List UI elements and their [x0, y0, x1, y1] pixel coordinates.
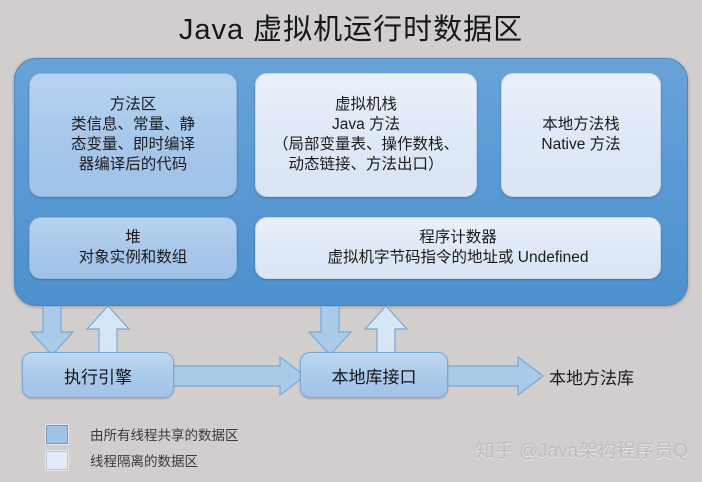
region-vm-stack: 虚拟机栈 Java 方法 （局部变量表、操作数栈、 动态链接、方法出口） [255, 73, 477, 197]
arrow-down-to-native-interface-icon [308, 306, 352, 356]
method-area-detail-3: 器编译后的代码 [71, 155, 195, 175]
region-method-area: 方法区 类信息、常量、静 态变量、即时编译 器编译后的代码 [29, 73, 237, 197]
native-method-stack-detail-1: Native 方法 [541, 135, 620, 155]
legend-swatch-isolated-icon [46, 451, 68, 470]
arrow-up-from-execution-engine-icon [86, 306, 130, 356]
page-title: Java 虚拟机运行时数据区 [0, 6, 702, 48]
vm-stack-detail-1: Java 方法 [273, 115, 459, 135]
vm-stack-detail-3: 动态链接、方法出口） [273, 155, 459, 175]
region-program-counter: 程序计数器 虚拟机字节码指令的地址或 Undefined [255, 217, 661, 279]
arrow-right-execution-engine-to-native-interface-icon [170, 356, 306, 396]
jvm-runtime-data-area-diagram: Java 虚拟机运行时数据区 方法区 类信息、常量、静 态变量、即时编译 器编译… [0, 0, 702, 482]
arrow-down-to-execution-engine-icon [30, 306, 74, 356]
legend-item-shared: 由所有线程共享的数据区 [46, 421, 239, 447]
native-method-stack-title: 本地方法栈 [541, 115, 620, 135]
legend-swatch-shared-icon [46, 425, 68, 444]
native-library-label: 本地方法库 [549, 364, 634, 389]
legend-label-isolated: 线程隔离的数据区 [90, 450, 198, 470]
region-native-method-stack: 本地方法栈 Native 方法 [501, 73, 661, 197]
method-area-detail-2: 态变量、即时编译 [71, 135, 195, 155]
legend-label-shared: 由所有线程共享的数据区 [90, 424, 239, 444]
vm-stack-title: 虚拟机栈 [273, 95, 459, 115]
watermark: 知乎 @Java架构程序员Q [476, 436, 688, 463]
native-interface-label: 本地库接口 [332, 363, 417, 388]
arrow-up-from-native-interface-icon [364, 306, 408, 356]
execution-engine-label: 执行引擎 [64, 363, 132, 388]
heap-title: 堆 [79, 228, 188, 248]
execution-engine-box: 执行引擎 [22, 352, 174, 398]
legend: 由所有线程共享的数据区 线程隔离的数据区 [46, 421, 239, 473]
program-counter-title: 程序计数器 [328, 228, 589, 248]
method-area-detail-1: 类信息、常量、静 [71, 115, 195, 135]
method-area-title: 方法区 [71, 95, 195, 115]
heap-detail-1: 对象实例和数组 [79, 248, 188, 268]
vm-stack-detail-2: （局部变量表、操作数栈、 [273, 135, 459, 155]
region-heap: 堆 对象实例和数组 [29, 217, 237, 279]
native-interface-box: 本地库接口 [300, 352, 448, 398]
arrow-right-native-interface-to-native-library-icon [444, 356, 544, 396]
legend-item-isolated: 线程隔离的数据区 [46, 447, 239, 473]
runtime-data-area-container: 方法区 类信息、常量、静 态变量、即时编译 器编译后的代码 虚拟机栈 Java … [14, 58, 688, 306]
program-counter-detail-1: 虚拟机字节码指令的地址或 Undefined [328, 248, 589, 268]
